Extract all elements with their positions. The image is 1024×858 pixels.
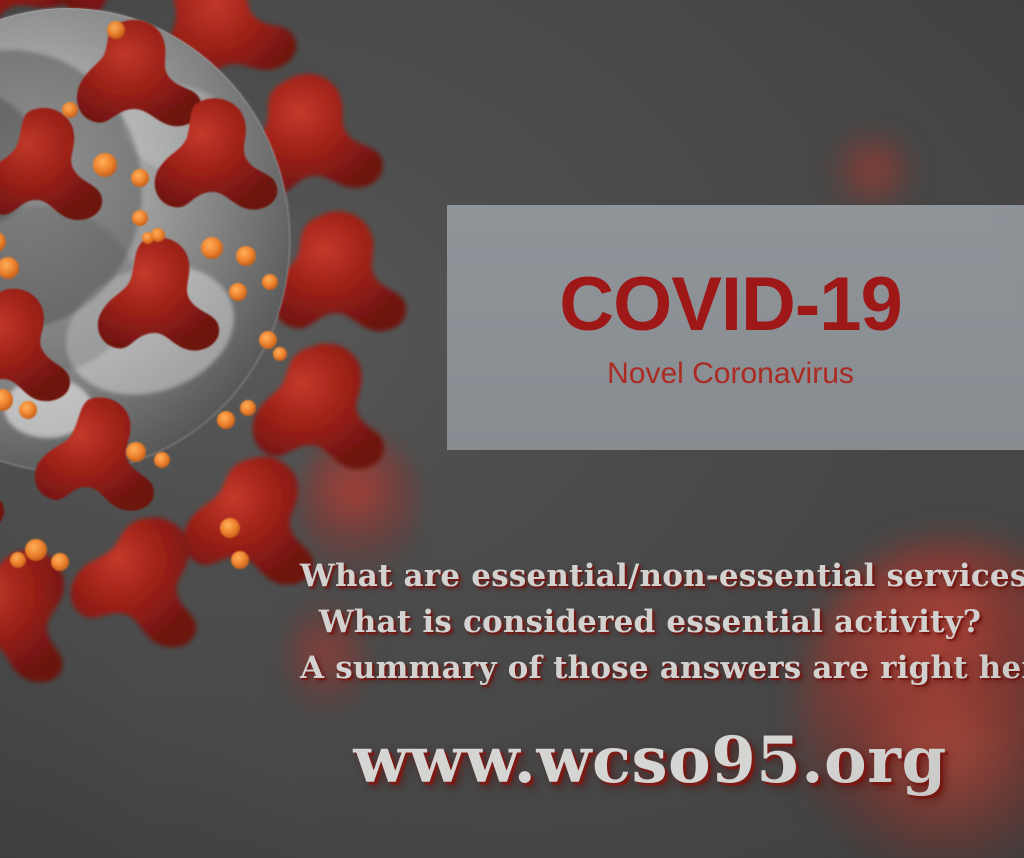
page-title: COVID-19 bbox=[447, 267, 1024, 343]
question-line-1: What are essential/non-essential service… bbox=[300, 553, 1000, 599]
website-url[interactable]: www.wcso95.org bbox=[300, 726, 1000, 796]
page-subtitle: Novel Coronavirus bbox=[447, 359, 1024, 389]
title-banner: COVID-19 Novel Coronavirus bbox=[447, 205, 1024, 450]
background-blur-spot-top-right bbox=[828, 130, 918, 210]
question-line-3: A summary of those answers are right her… bbox=[300, 645, 1000, 691]
question-block: What are essential/non-essential service… bbox=[300, 553, 1000, 691]
covid19-information-poster: COVID-19 Novel Coronavirus What are esse… bbox=[0, 0, 1024, 858]
question-line-2: What is considered essential activity? bbox=[300, 599, 1000, 645]
